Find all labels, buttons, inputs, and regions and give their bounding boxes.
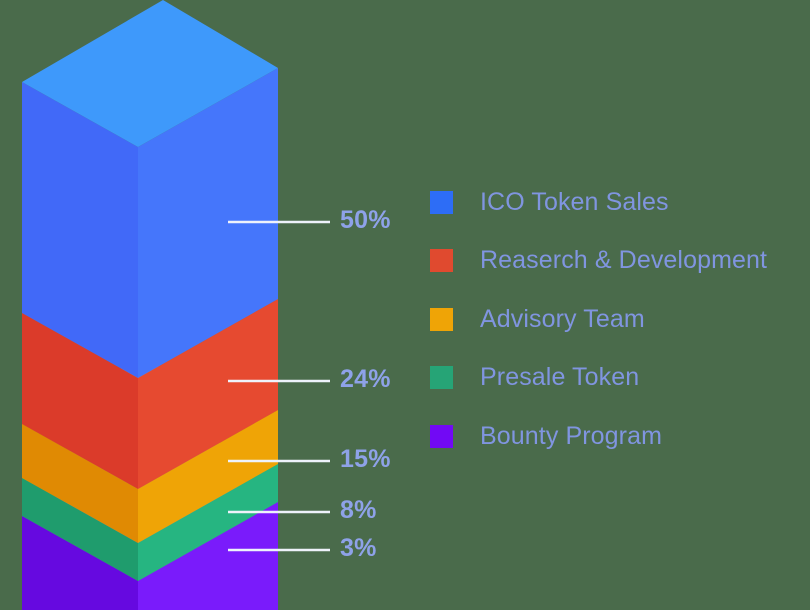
chart-canvas: 50% 24% 15% 8% 3% ICO Token Sales Reaser…: [0, 0, 810, 610]
legend-swatch-icon: [430, 366, 453, 389]
legend-swatch-icon: [430, 308, 453, 331]
legend-item-label: Advisory Team: [480, 307, 645, 332]
legend-item-ico-token-sales[interactable]: ICO Token Sales: [430, 173, 800, 232]
legend-item-advisory-team[interactable]: Advisory Team: [430, 290, 800, 349]
legend-item-label: Presale Token: [480, 365, 639, 390]
legend-item-bounty-program[interactable]: Bounty Program: [430, 407, 800, 466]
legend-item-research-development[interactable]: Reaserch & Development: [430, 232, 800, 291]
legend-swatch-icon: [430, 191, 453, 214]
legend-swatch-icon: [430, 249, 453, 272]
legend-item-label: ICO Token Sales: [480, 190, 669, 215]
callout-label-presale-token: 8%: [340, 498, 377, 523]
legend-item-label: Bounty Program: [480, 424, 662, 449]
legend-item-label: Reaserch & Development: [480, 248, 767, 273]
chart-legend: ICO Token Sales Reaserch & Development A…: [430, 173, 800, 466]
legend-swatch-icon: [430, 425, 453, 448]
callout-label-bounty-program: 3%: [340, 536, 377, 561]
callout-label-advisory-team: 15%: [340, 447, 391, 472]
callout-label-ico-token-sales: 50%: [340, 208, 391, 233]
legend-item-presale-token[interactable]: Presale Token: [430, 349, 800, 408]
callout-label-research-development: 24%: [340, 367, 391, 392]
